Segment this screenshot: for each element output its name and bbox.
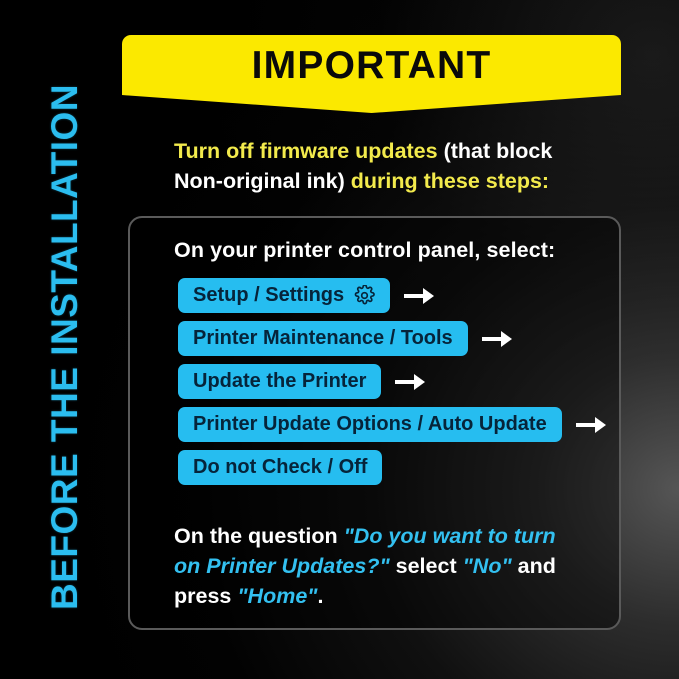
step-row: Do not Check / Off [178,450,382,485]
step-chip-printer-maintenance-tools[interactable]: Printer Maintenance / Tools [178,321,468,356]
important-banner: IMPORTANT [122,35,621,113]
step-row: Printer Maintenance / Tools [178,321,512,356]
arrow-right-icon [576,417,606,433]
step-chip-label: Update the Printer [193,369,366,393]
headline-text: Turn off firmware updates (that block No… [174,136,574,196]
closing-answer-no: "No" [463,554,512,578]
closing-text: On the question "Do you want to turn on … [174,521,580,611]
arrow-right-icon [482,331,512,347]
arrow-right-icon [395,374,425,390]
step-row: Update the Printer [178,364,425,399]
panel-heading: On your printer control panel, select: [174,238,555,263]
poster-canvas: BEFORE THE INSTALLATION IMPORTANT Turn o… [0,0,679,679]
step-chip-label: Do not Check / Off [193,455,367,479]
closing-segment-3: select [390,554,463,578]
step-chip-setup-settings[interactable]: Setup / Settings [178,278,390,313]
gear-icon [354,285,375,306]
vertical-heading: BEFORE THE INSTALLATION [35,37,95,657]
headline-segment-1: Turn off firmware updates [174,139,444,163]
step-chip-label: Setup / Settings [193,283,344,307]
step-chip-update-the-printer[interactable]: Update the Printer [178,364,381,399]
step-chip-label: Printer Update Options / Auto Update [193,412,547,436]
step-chip-label: Printer Maintenance / Tools [193,326,453,350]
headline-segment-3: during these steps: [345,169,549,193]
step-row: Setup / Settings [178,278,434,313]
step-row: Printer Update Options / Auto Update [178,407,606,442]
banner-label: IMPORTANT [122,44,621,88]
arrow-right-icon [404,288,434,304]
step-chip-do-not-check-off[interactable]: Do not Check / Off [178,450,382,485]
step-chip-printer-update-options-auto-update[interactable]: Printer Update Options / Auto Update [178,407,562,442]
closing-segment-7: . [317,584,323,608]
closing-segment-1: On the question [174,524,344,548]
closing-home-key: "Home" [237,584,317,608]
